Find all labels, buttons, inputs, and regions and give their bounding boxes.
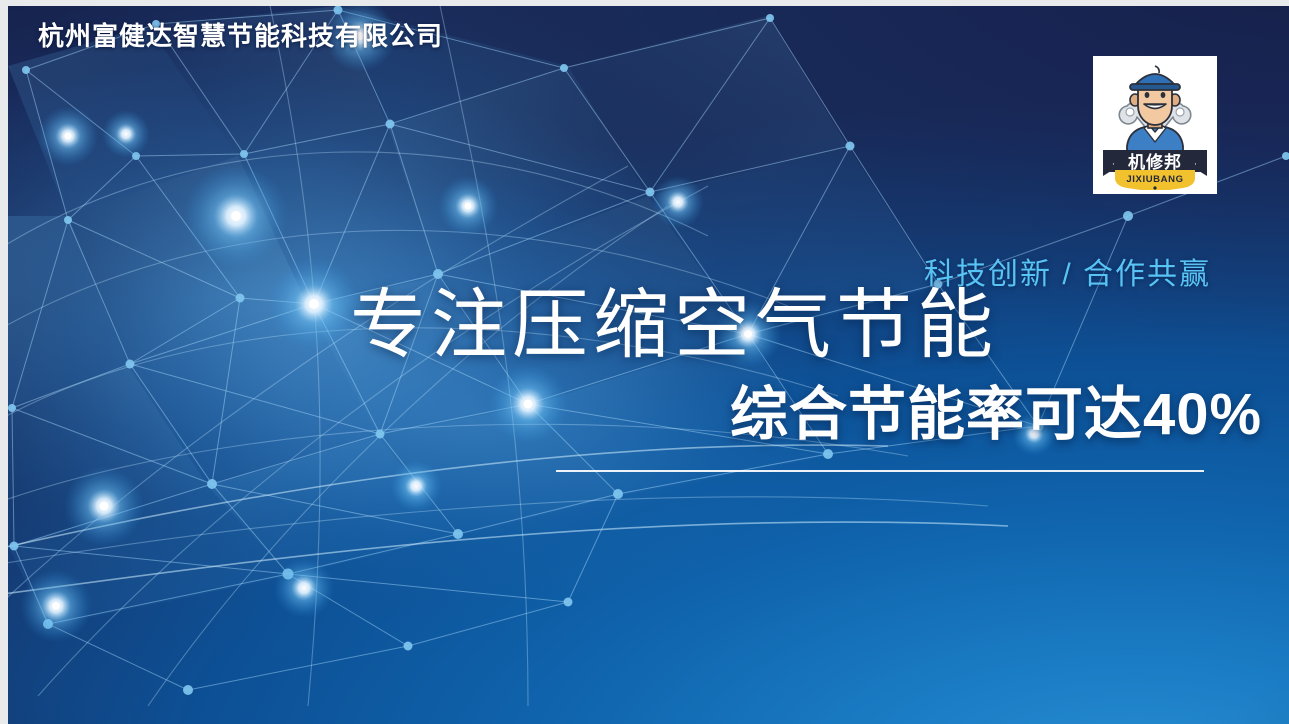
divider-line [556,470,1204,472]
company-logo[interactable]: · 机修邦 · JIXIUBANG [1093,56,1217,194]
cap-crown [1136,74,1174,84]
logo-graphic: · 机修邦 · JIXIUBANG [1097,60,1213,190]
banner-dot-right: · [1194,160,1197,170]
mechanic-mascot-icon [1119,66,1191,154]
cap-brim [1130,84,1180,90]
brand-name-cn: 机修邦 [1128,152,1182,172]
brand-name-en: JIXIUBANG [1126,174,1183,185]
eye-left-icon [1145,92,1150,98]
brand-ribbon: JIXIUBANG [1115,170,1195,190]
marketing-banner: 杭州富健达智慧节能科技有限公司 科技创新 / 合作共赢 专注压缩空气节能 综合节… [0,0,1289,724]
headline: 专注压缩空气节能 [350,287,998,363]
eye-right-icon [1161,92,1166,98]
subheadline: 综合节能率可达40% [730,386,1262,444]
company-name: 杭州富健达智慧节能科技有限公司 [38,16,443,53]
ribbon-dot-icon [1153,186,1156,189]
banner-artwork: 杭州富健达智慧节能科技有限公司 科技创新 / 合作共赢 专注压缩空气节能 综合节… [8,6,1289,724]
banner-dot-left: · [1112,160,1115,170]
